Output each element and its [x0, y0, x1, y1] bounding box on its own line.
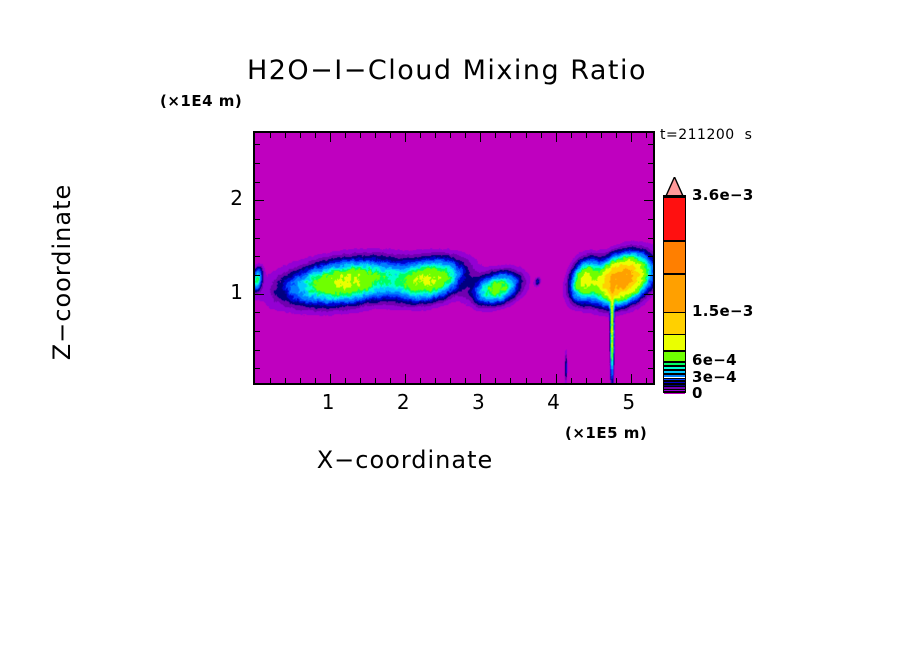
colorbar-divider: [664, 240, 685, 242]
x-tick: [285, 378, 286, 383]
x-tick: [390, 378, 391, 383]
colorbar-divider: [664, 380, 685, 382]
colorbar-divider: [664, 350, 685, 352]
x-tick-top: [270, 133, 271, 138]
x-tick-top: [556, 133, 557, 142]
x-tick-top: [465, 133, 466, 138]
z-tick: [255, 182, 260, 183]
colorbar-divider: [664, 369, 685, 371]
colorbar-divider: [664, 378, 685, 380]
z-tick-right: [648, 368, 653, 369]
x-tick-label: 4: [547, 390, 560, 414]
z-tick-label: 2: [215, 186, 243, 210]
x-tick: [510, 378, 511, 383]
timestamp-label: t=211200 s: [660, 127, 752, 143]
z-tick: [255, 256, 260, 257]
y-axis-title: Z−coordinate: [48, 122, 76, 422]
z-tick: [255, 368, 260, 369]
page-title: H2O−I−Cloud Mixing Ratio: [0, 55, 904, 86]
colorbar-gradient: [663, 195, 686, 393]
z-tick-right: [648, 350, 653, 351]
x-tick: [420, 378, 421, 383]
x-tick-top: [480, 133, 481, 142]
x-tick: [541, 378, 542, 383]
colorbar-divider: [664, 383, 685, 385]
x-tick: [526, 378, 527, 383]
colorbar-band: [664, 312, 685, 334]
x-tick: [300, 378, 301, 383]
x-tick: [345, 378, 346, 383]
colorbar-divider: [664, 196, 685, 198]
x-tick-top: [450, 133, 451, 138]
x-tick: [375, 378, 376, 383]
colorbar-tick-label: 3e−4: [692, 368, 737, 386]
colorbar-divider: [664, 391, 685, 393]
x-tick-top: [405, 133, 406, 142]
x-tick-top: [631, 133, 632, 142]
x-tick-top: [495, 133, 496, 138]
y-axis-unit-label: (×1E4 m): [160, 92, 242, 110]
z-tick-right: [648, 256, 653, 257]
x-tick-label: 3: [472, 390, 485, 414]
z-tick-right: [648, 219, 653, 220]
z-tick-right: [648, 238, 653, 239]
page-title-text: H2O−I−Cloud Mixing Ratio: [247, 55, 647, 86]
z-tick: [255, 350, 260, 351]
x-tick: [405, 374, 406, 383]
z-tick: [255, 200, 264, 201]
x-tick: [586, 378, 587, 383]
x-tick: [270, 378, 271, 383]
z-tick: [255, 238, 260, 239]
z-tick: [255, 312, 260, 313]
colorbar: [663, 177, 686, 393]
colorbar-band: [664, 334, 685, 351]
x-tick-label: 2: [397, 390, 410, 414]
x-tick: [571, 378, 572, 383]
x-tick: [556, 374, 557, 383]
z-tick-right: [648, 312, 653, 313]
x-tick-label: 1: [322, 390, 335, 414]
z-tick-right: [648, 182, 653, 183]
x-tick-top: [300, 133, 301, 138]
z-tick: [255, 144, 260, 145]
x-axis-unit-label: (×1E5 m): [565, 424, 647, 442]
x-tick-top: [390, 133, 391, 138]
z-tick-right: [644, 294, 653, 295]
colorbar-tick-label: 1.5e−3: [692, 302, 754, 320]
x-tick: [315, 378, 316, 383]
colorbar-tick-label: 6e−4: [692, 351, 737, 369]
x-tick-top: [420, 133, 421, 138]
x-tick: [330, 374, 331, 383]
x-tick-top: [285, 133, 286, 138]
heatmap-plot-area: [253, 131, 655, 385]
x-tick: [450, 378, 451, 383]
colorbar-divider: [664, 365, 685, 367]
colorbar-band: [664, 273, 685, 312]
x-tick-top: [360, 133, 361, 138]
x-axis-title: X−coordinate: [0, 446, 904, 474]
colorbar-band: [664, 240, 685, 273]
x-tick: [435, 378, 436, 383]
x-axis-title-text: X−coordinate: [317, 446, 494, 474]
x-tick: [631, 374, 632, 383]
z-tick: [255, 219, 260, 220]
x-tick-top: [315, 133, 316, 138]
z-tick-right: [648, 331, 653, 332]
x-tick: [465, 378, 466, 383]
z-tick: [255, 275, 260, 276]
x-tick-label: 5: [622, 390, 635, 414]
x-tick: [495, 378, 496, 383]
colorbar-divider: [664, 312, 685, 314]
x-tick-top: [571, 133, 572, 138]
colorbar-divider: [664, 334, 685, 336]
x-tick-top: [601, 133, 602, 138]
colorbar-band: [664, 350, 685, 361]
x-tick-top: [616, 133, 617, 138]
z-tick-label: 1: [215, 280, 243, 304]
x-tick: [646, 378, 647, 383]
colorbar-band: [664, 196, 685, 240]
x-tick-top: [375, 133, 376, 138]
colorbar-divider: [664, 389, 685, 391]
z-tick-right: [644, 200, 653, 201]
x-tick-top: [586, 133, 587, 138]
colorbar-arrow-icon: [663, 177, 686, 196]
colorbar-tick-label: 0: [692, 384, 703, 402]
x-tick: [360, 378, 361, 383]
x-tick: [480, 374, 481, 383]
x-tick-top: [435, 133, 436, 138]
colorbar-divider: [664, 273, 685, 275]
z-tick-right: [648, 163, 653, 164]
z-tick-right: [648, 144, 653, 145]
colorbar-tick-label: 3.6e−3: [692, 186, 754, 204]
x-tick-top: [345, 133, 346, 138]
x-tick-top: [541, 133, 542, 138]
x-tick: [616, 378, 617, 383]
z-tick: [255, 294, 264, 295]
x-tick-top: [330, 133, 331, 142]
x-tick-top: [510, 133, 511, 138]
x-tick-top: [526, 133, 527, 138]
colorbar-divider: [664, 386, 685, 388]
heatmap-canvas: [255, 133, 653, 383]
colorbar-divider: [664, 361, 685, 363]
x-tick: [601, 378, 602, 383]
x-tick-top: [646, 133, 647, 138]
z-tick-right: [648, 275, 653, 276]
z-tick: [255, 331, 260, 332]
z-tick: [255, 163, 260, 164]
colorbar-divider: [664, 373, 685, 375]
